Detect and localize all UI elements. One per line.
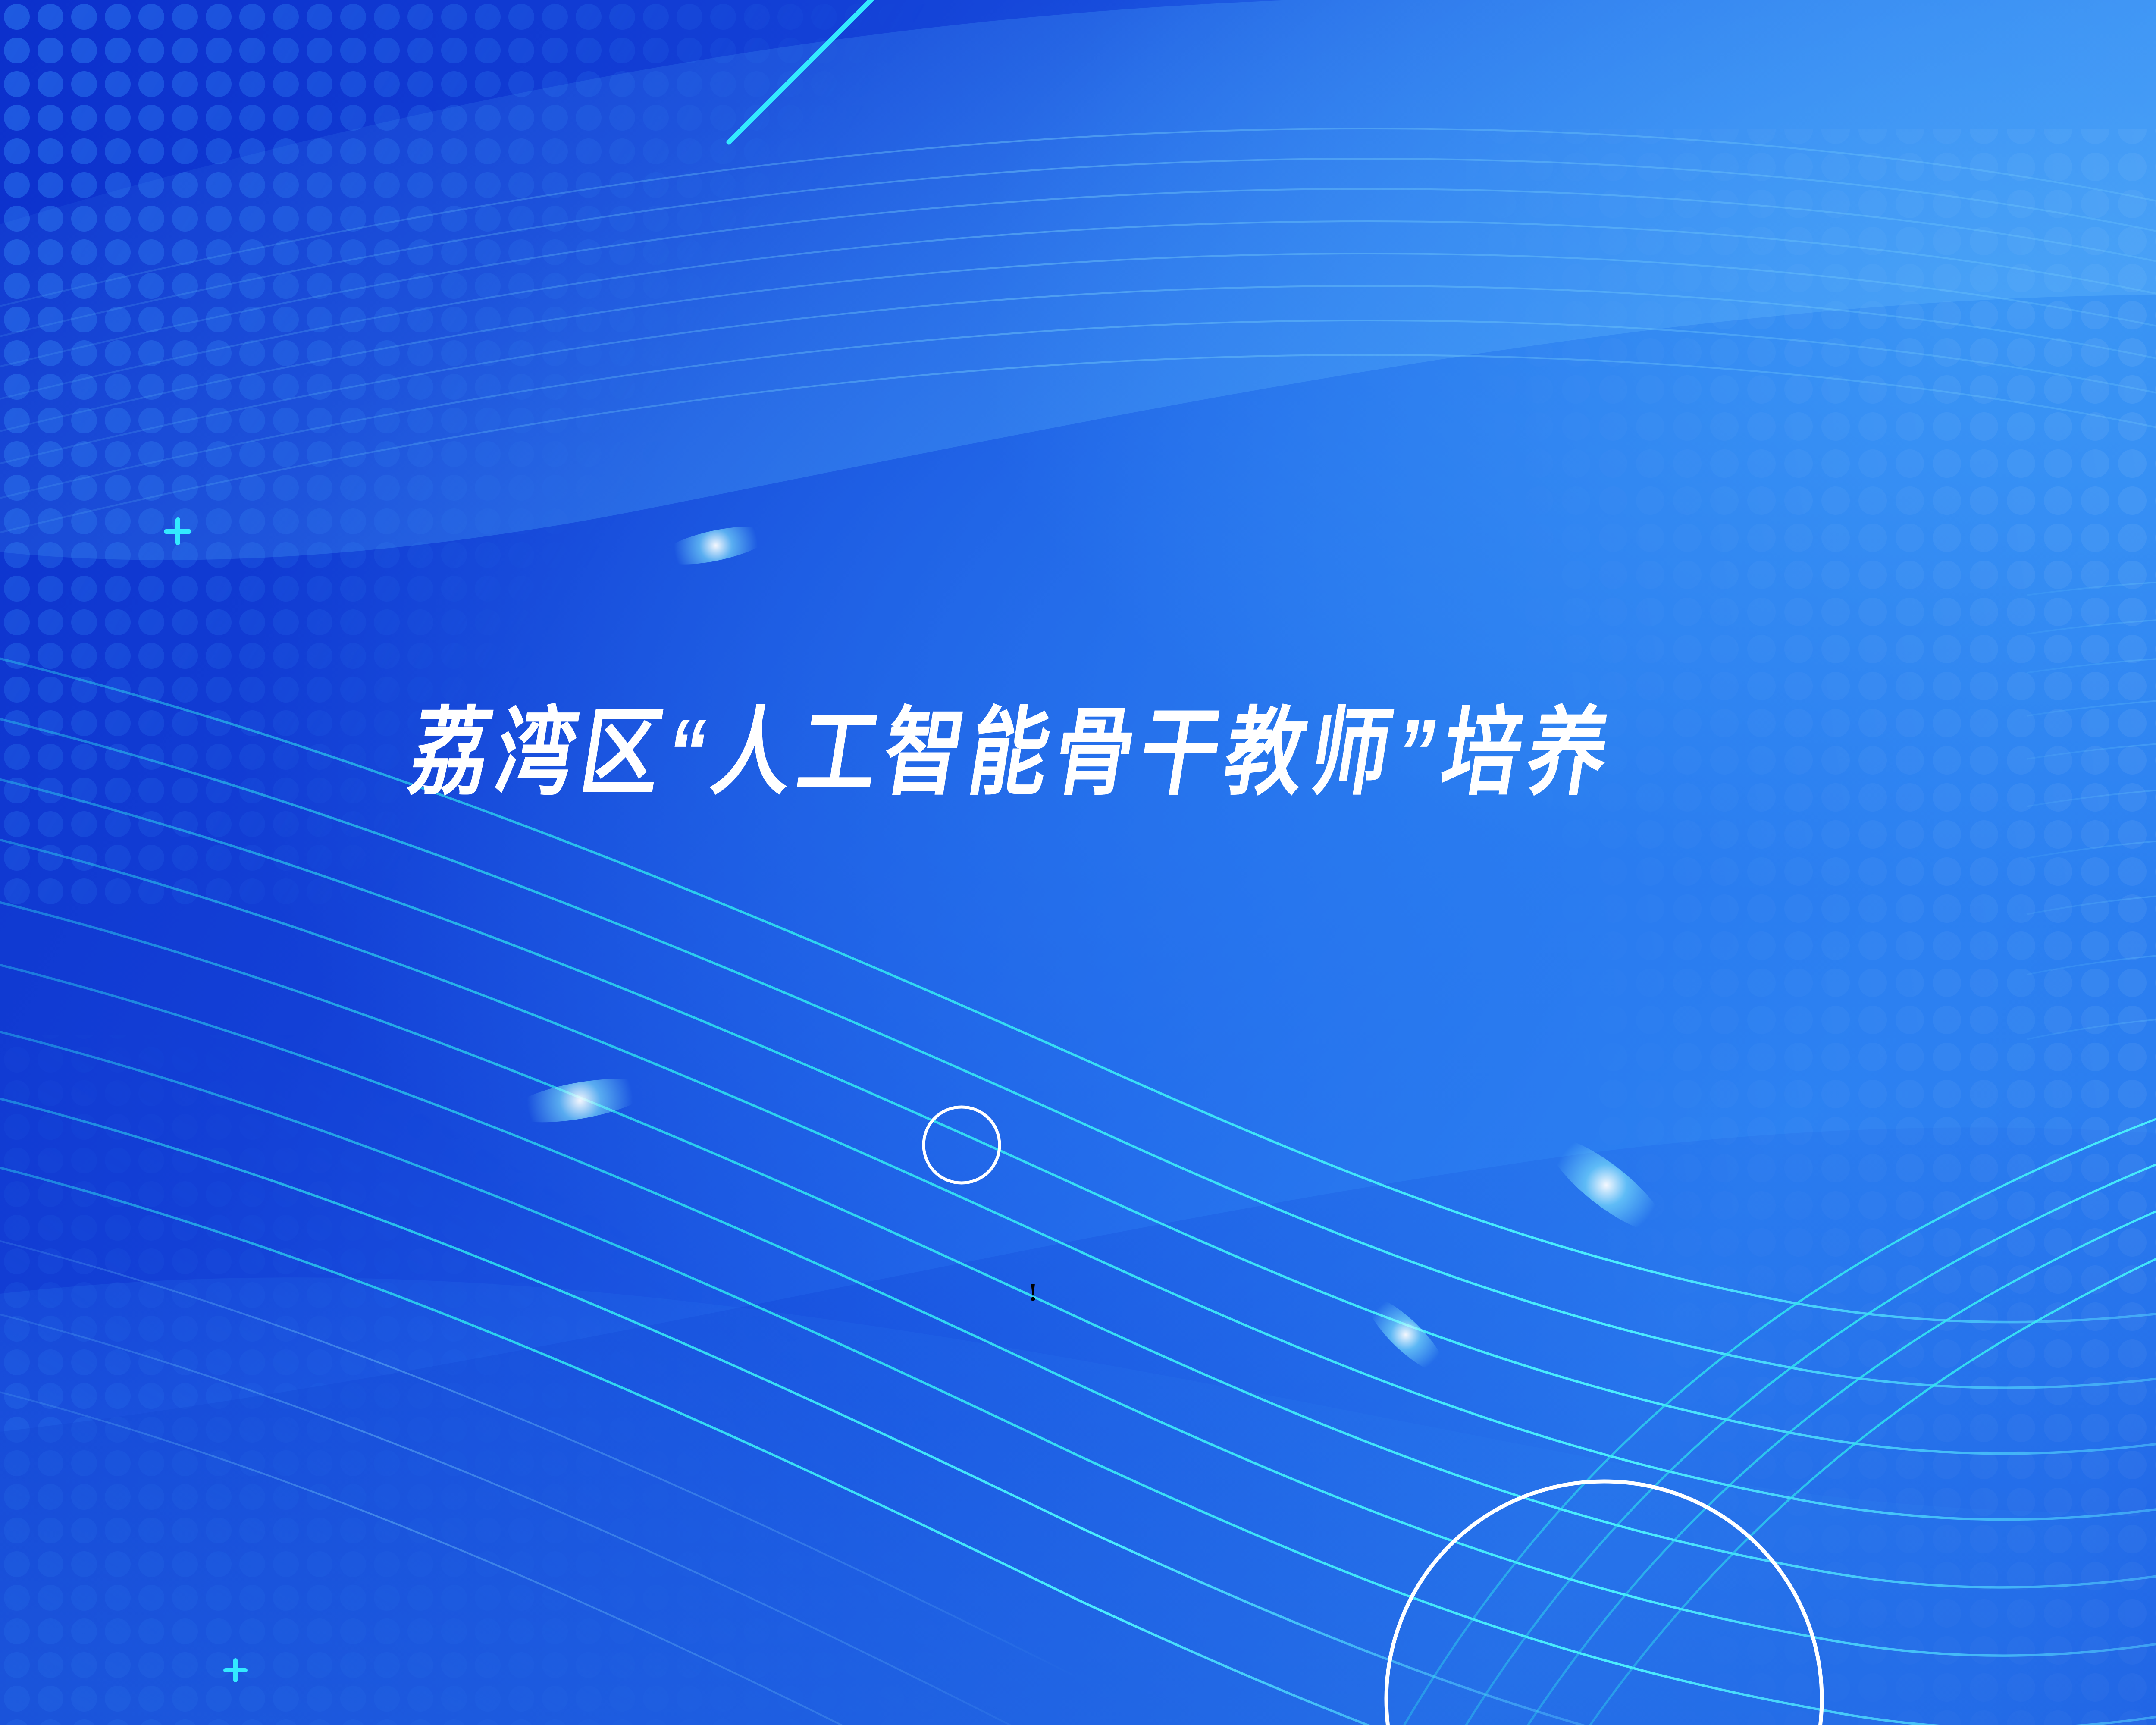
plus-marker-left	[164, 517, 191, 545]
glow-highlight	[1358, 1288, 1453, 1381]
slide-title-block: 荔湾区“人工智能骨干教师”培养	[412, 703, 2156, 802]
slide-canvas: ! 荔湾区“人工智能骨干教师”培养	[0, 0, 2156, 1725]
glow-highlight	[507, 1070, 653, 1131]
diagonal-streaks	[0, 0, 2156, 1725]
wave-line-ribbons	[0, 0, 2156, 1725]
plus-marker-bottom	[223, 1658, 248, 1682]
circle-outline-small	[924, 1107, 1000, 1183]
halftone-dot-pattern	[0, 0, 2156, 1725]
exclamation-artifact: !	[1029, 1280, 1037, 1305]
page-title: 荔湾区“人工智能骨干教师”培养	[404, 705, 1621, 800]
background-gradient	[0, 0, 2156, 1725]
background-sweep-bands	[0, 0, 2156, 1725]
outline-shapes	[0, 0, 2156, 1725]
glow-highlight	[1537, 1125, 1675, 1245]
circle-outline-large	[1386, 1481, 1822, 1725]
glow-highlight	[658, 519, 774, 572]
streak-top-left	[729, 0, 888, 142]
